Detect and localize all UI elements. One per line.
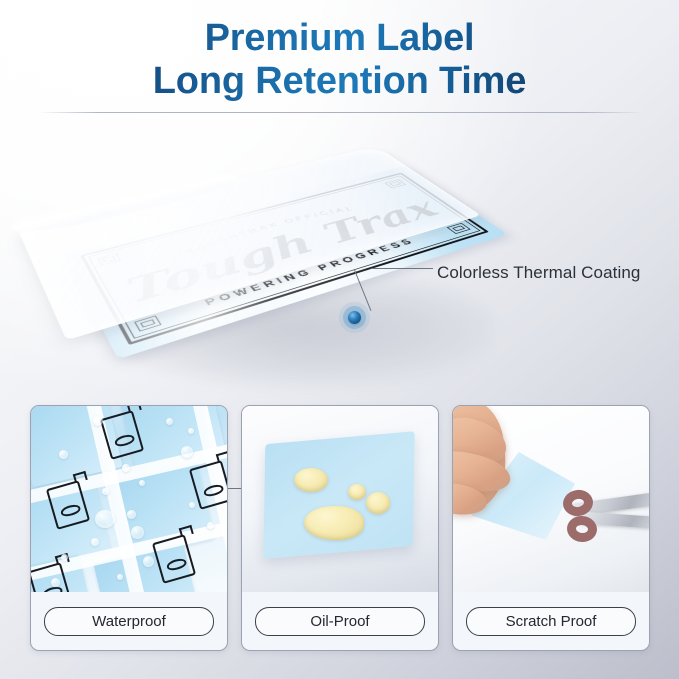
scratch-proof-art — [453, 406, 649, 592]
water-droplet-icon — [166, 418, 173, 425]
water-droplet-icon — [122, 464, 130, 472]
page-title-line-1: Premium Label — [0, 18, 679, 59]
label-3d-stage: TOUGHTRAX OFFICIAL Tough Trax POWERING P… — [55, 128, 575, 378]
oil-droplet-icon — [366, 492, 390, 514]
water-droplet-icon — [117, 574, 123, 580]
water-droplet-icon — [188, 428, 194, 434]
water-droplet-icon — [131, 526, 144, 539]
water-droplet-icon — [207, 522, 214, 529]
oil-droplet-icon — [294, 468, 328, 492]
page-title-line-2: Long Retention Time — [0, 61, 679, 102]
water-droplet-icon — [143, 556, 154, 567]
water-droplet-icon — [181, 446, 193, 458]
water-droplet-icon — [127, 510, 136, 519]
feature-panel-waterproof[interactable]: Waterproof — [30, 405, 228, 651]
oil-droplet-icon — [348, 484, 366, 500]
oil-droplet-icon — [304, 506, 364, 540]
feature-caption-waterproof[interactable]: Waterproof — [44, 607, 214, 636]
feature-caption-oil-proof[interactable]: Oil-Proof — [255, 607, 425, 636]
water-droplet-icon — [95, 510, 115, 528]
callout-dot-icon-coating — [348, 311, 361, 324]
hero-product-illustration: TOUGHTRAX OFFICIAL Tough Trax POWERING P… — [0, 118, 679, 393]
water-droplet-icon — [139, 480, 145, 486]
callout-label-colorless-thermal-coating: Colorless Thermal Coating — [437, 263, 640, 283]
feature-panel-scratch-proof[interactable]: Scratch Proof — [452, 405, 650, 651]
water-droplet-icon — [102, 488, 109, 495]
water-droplet-icon — [93, 416, 103, 426]
water-droplet-icon — [61, 554, 68, 561]
product-feature-graphic: Premium Label Long Retention Time — [0, 0, 679, 679]
water-droplet-icon — [189, 502, 195, 508]
feature-panels: Waterproof Oil-Proof — [0, 405, 679, 653]
callout-leader-coating-horizontal — [371, 268, 433, 269]
waterproof-art — [31, 406, 227, 592]
feature-caption-scratch-proof[interactable]: Scratch Proof — [466, 607, 636, 636]
feature-panel-oil-proof[interactable]: Oil-Proof — [241, 405, 439, 651]
oil-proof-art — [242, 406, 438, 592]
corner-ornament-icon — [134, 315, 161, 331]
water-droplet-icon — [91, 538, 99, 546]
page-header: Premium Label Long Retention Time — [0, 18, 679, 102]
header-divider — [38, 112, 644, 113]
water-droplet-icon — [59, 450, 68, 459]
water-droplet-icon — [51, 578, 60, 587]
